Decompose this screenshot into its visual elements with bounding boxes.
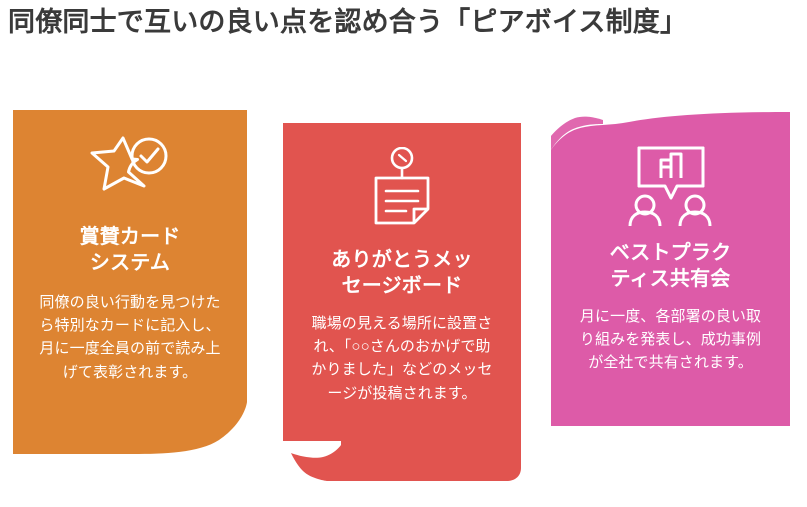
card-title-line1: ありがとうメッ [331, 249, 472, 271]
icon-wrap-pinned-note [366, 147, 438, 231]
card-title-praise: 賞賛カード システム [25, 224, 235, 277]
card-title-line1: 賞賛カード [80, 226, 181, 248]
card-title-line2: セージボード [342, 275, 463, 297]
card-title-line2: システム [90, 252, 170, 274]
card-praise-card-system: 賞賛カード システム 同僚の良い行動を見つけたら特別なカードに記入し、月に一度全… [13, 110, 247, 460]
card-thankyou-message-board: ありがとうメッ セージボード 職場の見える場所に設置され、「○○さんのおかげで助… [283, 123, 521, 485]
icon-wrap-star-check [88, 132, 172, 206]
icon-wrap-speech-chart-people [619, 142, 723, 226]
card-title-thanks: ありがとうメッ セージボード [299, 247, 505, 300]
card-best-practice-sharing: ベストプラク ティス共有会 月に一度、各部署の良い取り組みを発表し、成功事例が全… [551, 112, 790, 426]
speech-bubble-chart-people-icon [619, 142, 723, 226]
page-title: 同僚同士で互いの良い点を認め合う「ピアボイス制度」 [8, 6, 803, 40]
pinned-note-icon [366, 147, 438, 231]
card-title-line1: ベストプラク [610, 242, 732, 264]
card-body-bestpractice: 月に一度、各部署の良い取り組みを発表し、成功事例が全社で共有されます。 [575, 305, 767, 375]
card-body-thanks: 職場の見える場所に設置され、「○○さんのおかげで助かりました」などのメッセージが… [308, 312, 496, 405]
card-title-line2: ティス共有会 [611, 268, 731, 290]
card-title-bestpractice: ベストプラク ティス共有会 [566, 240, 776, 293]
card-body-praise: 同僚の良い行動を見つけたら特別なカードに記入し、月に一度全員の前で読み上げて表彰… [37, 291, 223, 384]
star-check-icon [88, 132, 172, 206]
infographic-root: 同僚同士で互いの良い点を認め合う「ピアボイス制度」 賞賛カード システム 同僚の… [0, 0, 807, 507]
